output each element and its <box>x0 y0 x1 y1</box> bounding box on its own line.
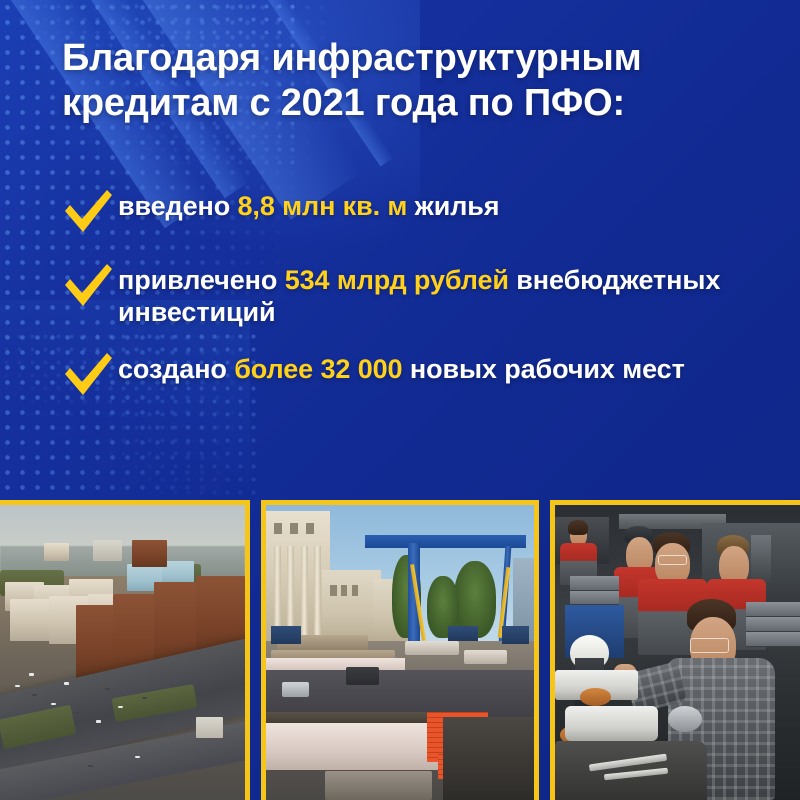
achievement-list: введено 8,8 млн кв. м жилья привлечено 5… <box>56 186 756 423</box>
list-item-text: привлечено 534 млрд рублей внебюджетных … <box>118 260 756 329</box>
list-item-metric: 8,8 млн кв. м <box>238 191 408 221</box>
page-title-line-2: кредитам с 2021 года по ПФО: <box>62 81 752 126</box>
page-title: Благодаря инфраструктурным кредитам с 20… <box>62 36 752 126</box>
check-mark-icon <box>56 351 118 397</box>
list-item-segment: привлечено <box>118 265 285 295</box>
workshop-training-photo <box>550 500 800 800</box>
list-item-segment: введено <box>118 191 238 221</box>
list-item-metric: 534 млрд рублей <box>285 265 509 295</box>
photo-strip <box>0 500 800 800</box>
check-mark-icon <box>56 188 118 234</box>
list-item-segment: жилья <box>407 191 499 221</box>
list-item-metric: более 32 000 <box>234 354 402 384</box>
list-item: привлечено 534 млрд рублей внебюджетных … <box>56 260 756 329</box>
list-item-segment: создано <box>118 354 234 384</box>
list-item: введено 8,8 млн кв. м жилья <box>56 186 756 234</box>
list-item-text: введено 8,8 млн кв. м жилья <box>118 186 499 222</box>
construction-site-photo <box>261 500 539 800</box>
list-item-text: создано более 32 000 новых рабочих мест <box>118 349 685 385</box>
list-item-segment: новых рабочих мест <box>402 354 684 384</box>
aerial-residential-district-photo <box>0 500 250 800</box>
page-title-line-1: Благодаря инфраструктурным <box>62 36 752 81</box>
infographic-poster: Благодаря инфраструктурным кредитам с 20… <box>0 0 800 800</box>
list-item: создано более 32 000 новых рабочих мест <box>56 349 756 397</box>
check-mark-icon <box>56 262 118 308</box>
